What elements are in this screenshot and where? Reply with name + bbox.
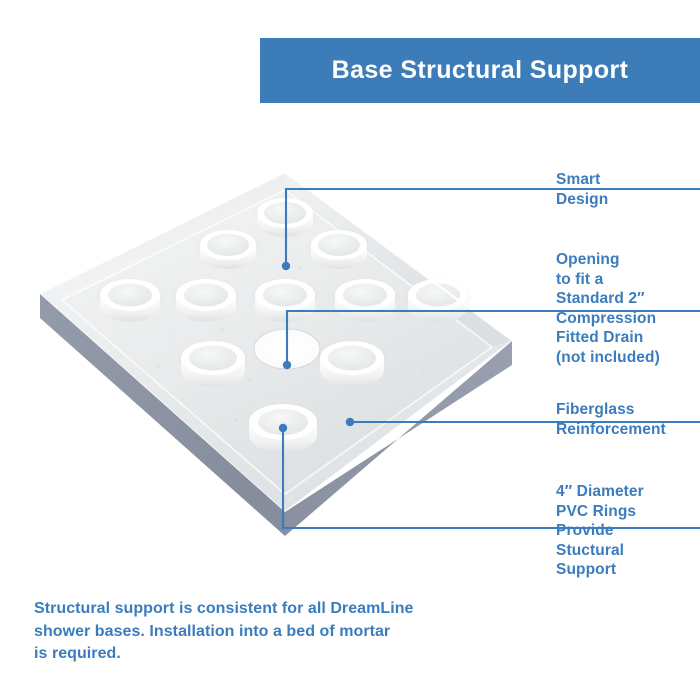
callout-label-smart-design: Smart Design [556,170,608,209]
footer-note: Structural support is consistent for all… [34,598,504,666]
callout-label-pvc-rings: 4″ Diameter PVC Rings Provide Stuctural … [556,482,644,580]
page-title: Base Structural Support [332,56,629,85]
leader-dot-drain-opening [283,361,291,369]
page-root: Base Structural Support Smart Design Ope… [0,0,700,700]
leader-dot-pvc-rings [279,424,287,432]
callout-label-drain-opening: Opening to fit a Standard 2″ Compression… [556,250,660,367]
header-banner: Base Structural Support [260,38,700,103]
leader-dot-fiberglass [346,418,354,426]
callout-label-fiberglass-reinforcement: Fiberglass Reinforcement [556,400,666,439]
leader-dot-smart-design [282,262,290,270]
